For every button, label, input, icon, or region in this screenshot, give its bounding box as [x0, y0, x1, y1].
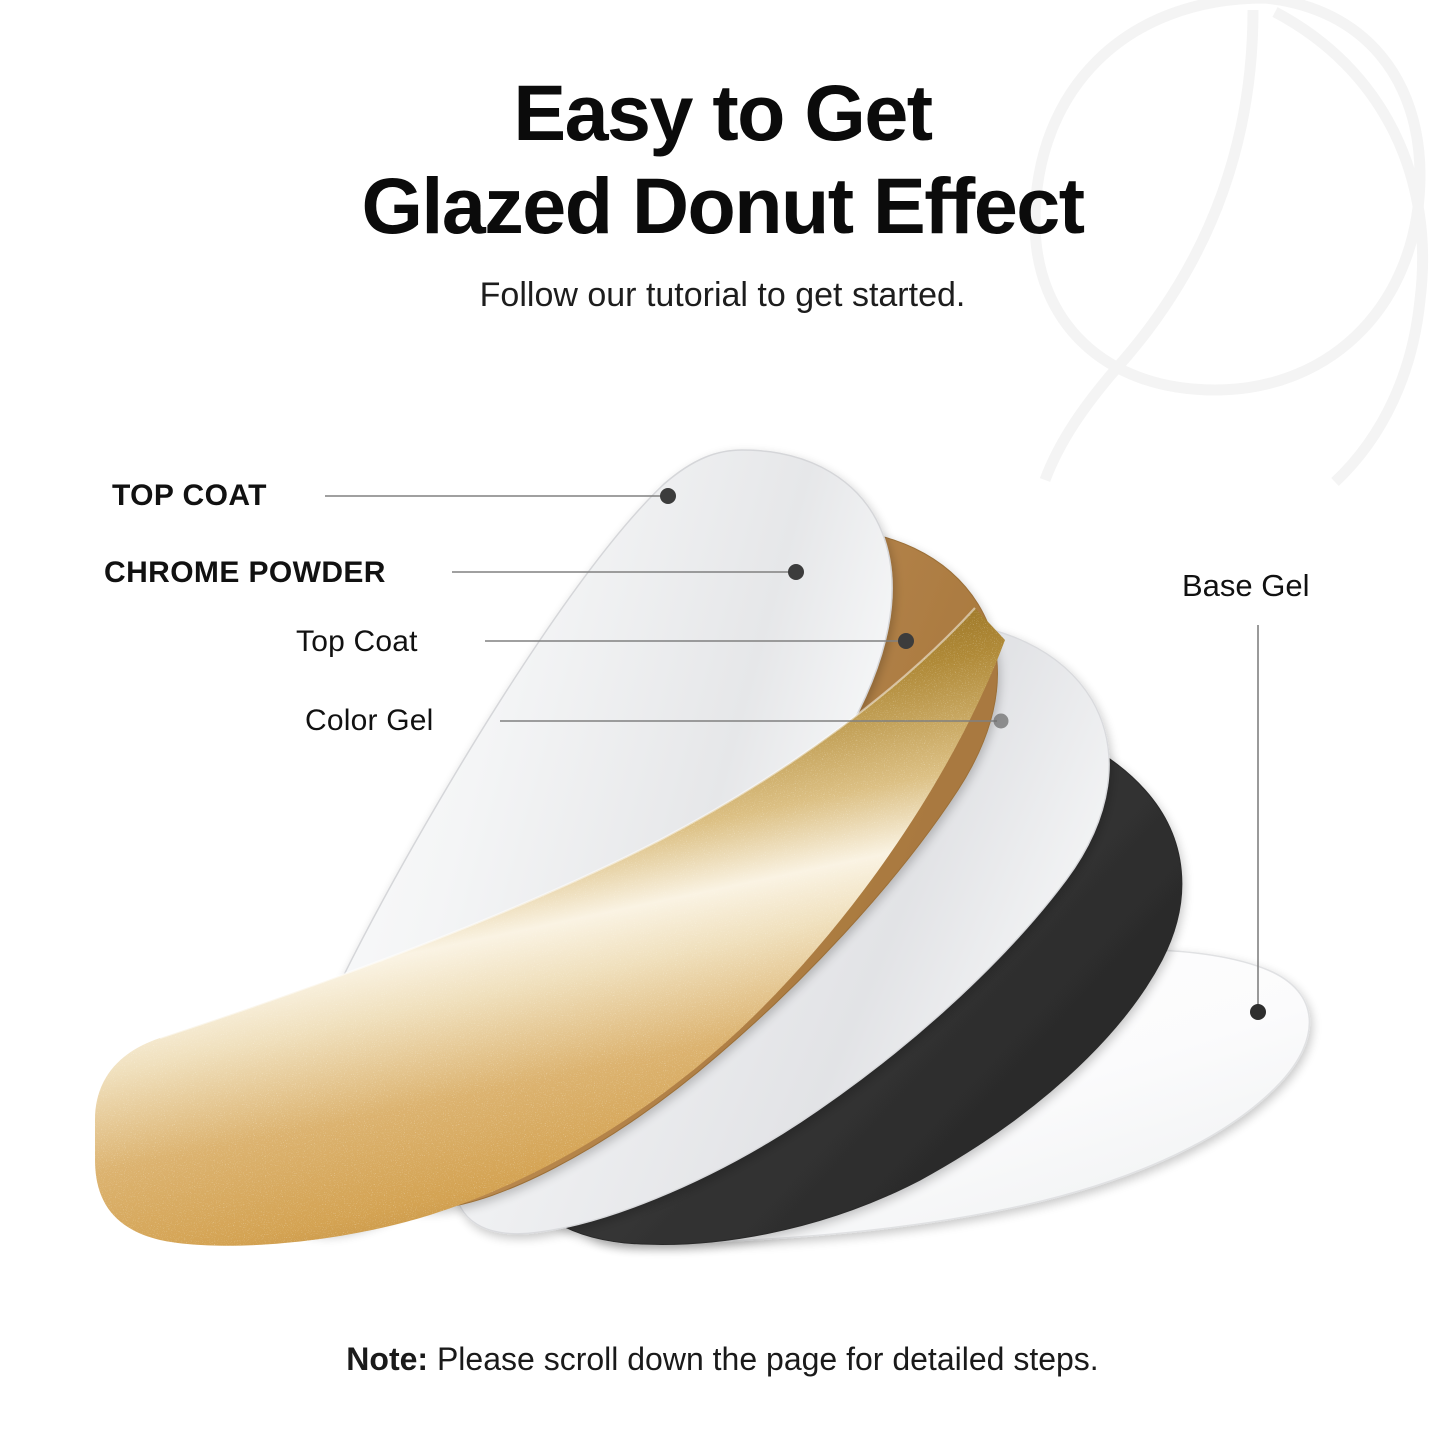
- page-header: Easy to Get Glazed Donut Effect Follow o…: [0, 66, 1445, 315]
- leader-dot-top-coat: [898, 633, 914, 649]
- label-base-gel: Base Gel: [1182, 568, 1310, 604]
- page-title-line-1: Easy to Get: [0, 66, 1445, 159]
- label-color-gel: Color Gel: [305, 704, 434, 738]
- leader-dot-chrome-powder: [788, 564, 804, 580]
- footer-note-text: Please scroll down the page for detailed…: [428, 1341, 1099, 1377]
- footer-note: Note: Please scroll down the page for de…: [0, 1341, 1445, 1378]
- label-chrome-powder: CHROME POWDER: [104, 556, 386, 590]
- leader-dot-base-gel: [1250, 1004, 1266, 1020]
- infographic-page: Easy to Get Glazed Donut Effect Follow o…: [0, 0, 1445, 1445]
- page-subtitle: Follow our tutorial to get started.: [0, 276, 1445, 315]
- leader-dot-color-gel: [994, 714, 1009, 729]
- label-top-coat-caps: TOP COAT: [112, 479, 267, 513]
- label-top-coat: Top Coat: [296, 625, 418, 659]
- footer-note-prefix: Note:: [346, 1341, 428, 1377]
- page-title-line-2: Glazed Donut Effect: [0, 159, 1445, 252]
- leader-dot-top-coat-caps: [660, 488, 676, 504]
